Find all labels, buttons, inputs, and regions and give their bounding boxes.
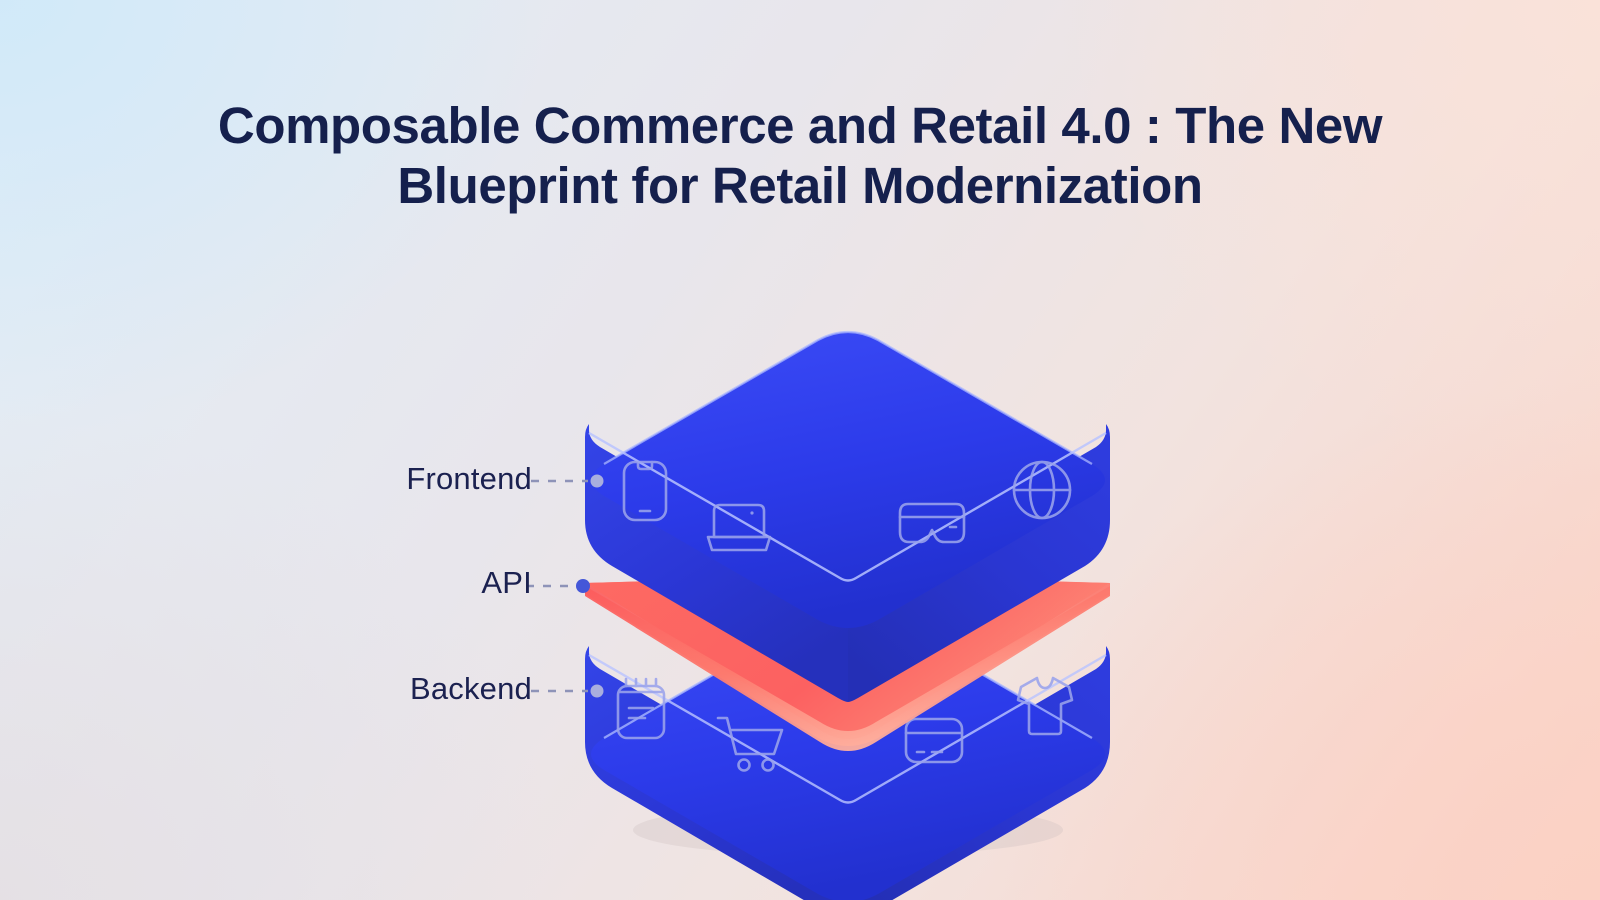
layer-stack-diagram <box>0 0 1600 900</box>
backend-connector-dot <box>591 685 604 698</box>
layer-label-frontend: Frontend <box>406 461 532 497</box>
frontend-connector-dot <box>591 475 604 488</box>
layer-label-api: API <box>481 565 532 601</box>
layer-label-backend: Backend <box>410 671 532 707</box>
api-connector-dot <box>576 579 590 593</box>
frontend-layer-shape <box>585 332 1110 702</box>
